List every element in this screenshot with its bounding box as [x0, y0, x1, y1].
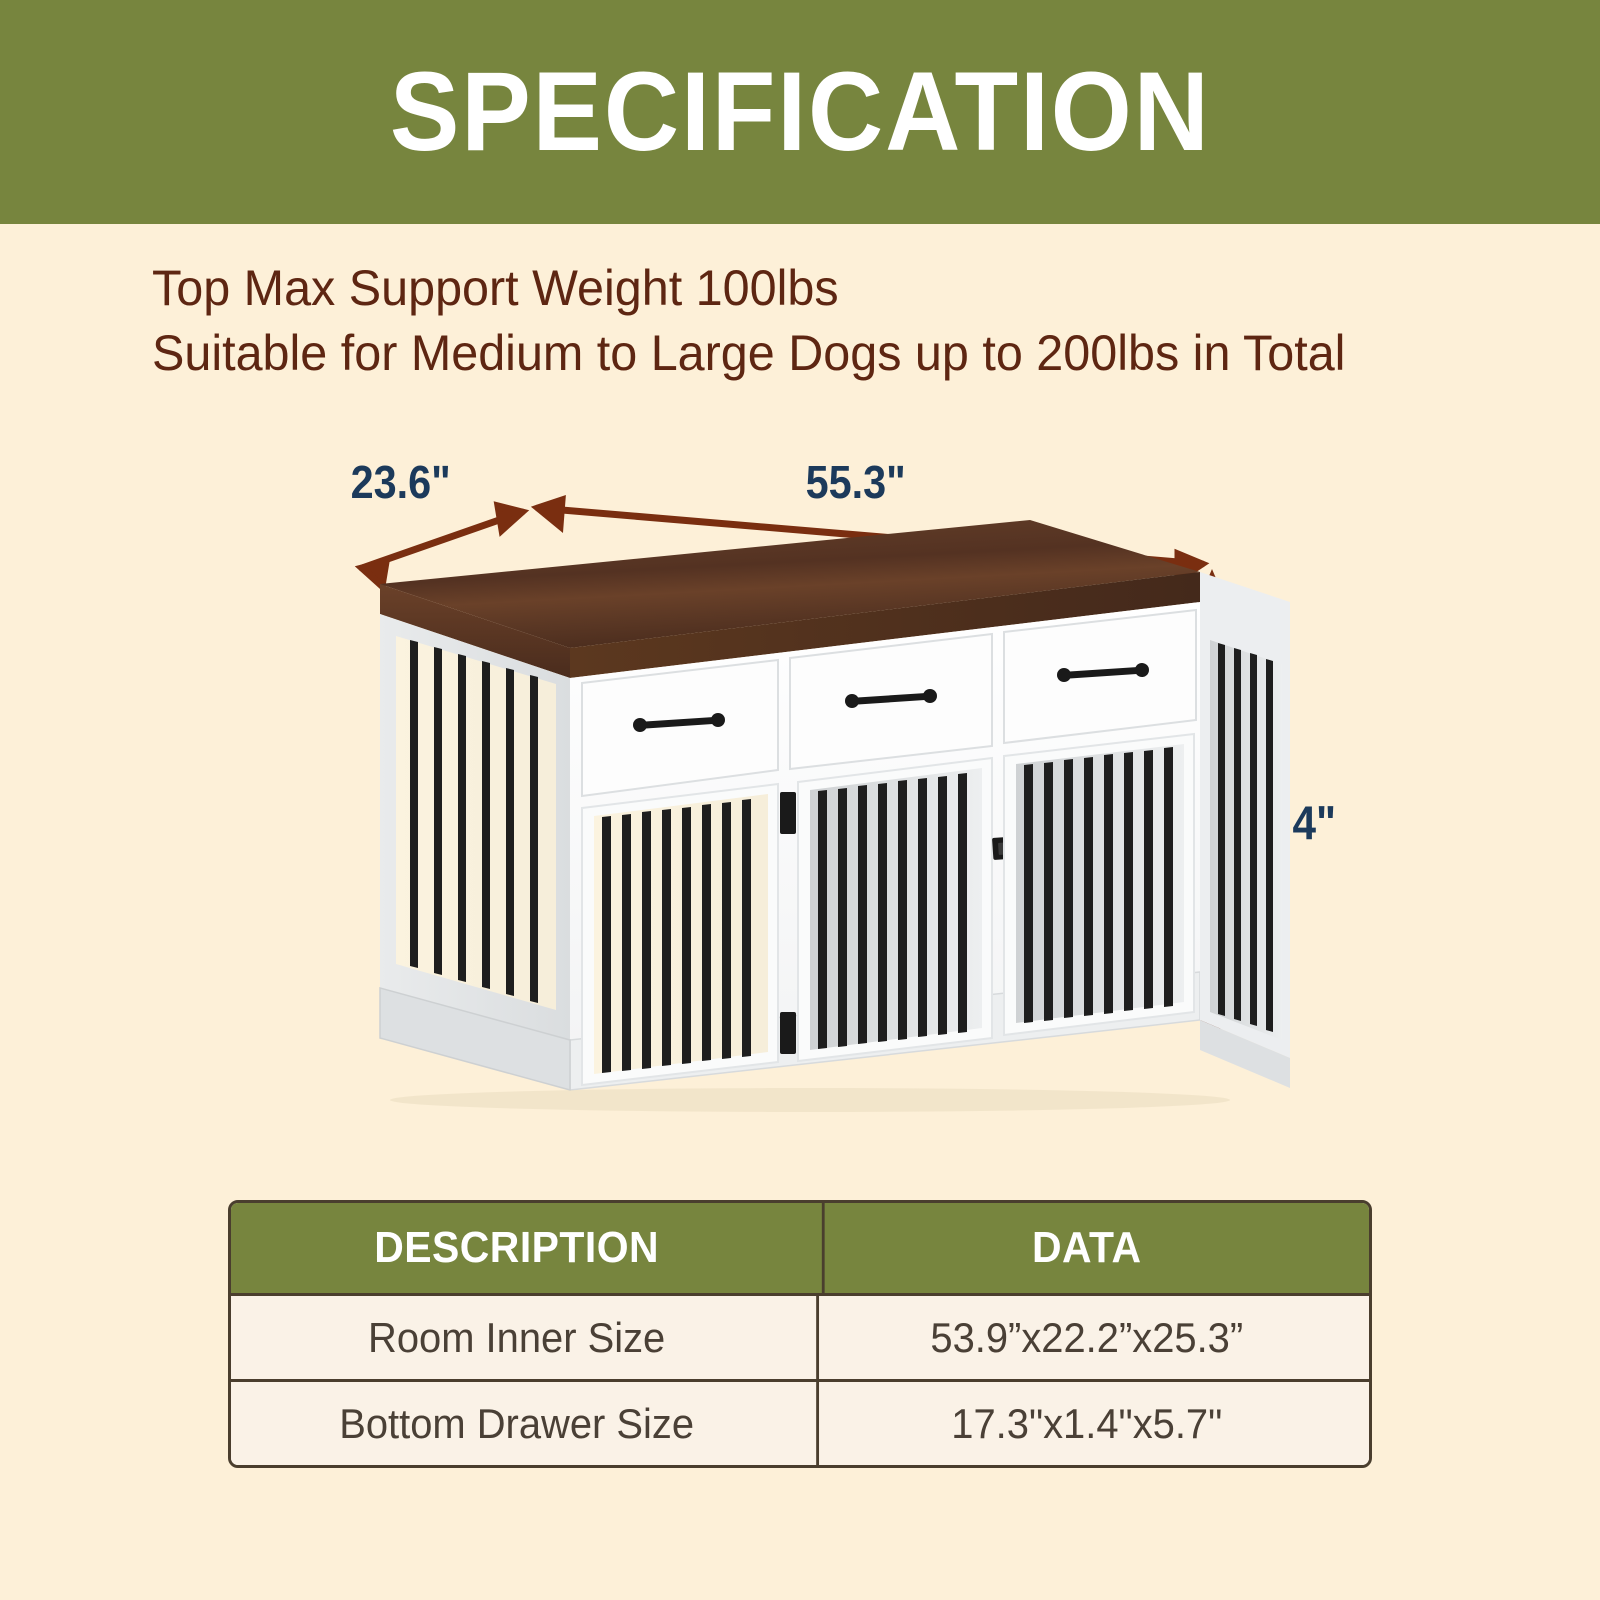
subtitle-line-2: Suitable for Medium to Large Dogs up to …	[152, 321, 1432, 386]
table-row: Bottom Drawer Size 17.3"x1.4"x5.7"	[231, 1379, 1369, 1465]
crate-door-1-opening	[594, 794, 768, 1074]
crate-door-1[interactable]	[582, 784, 796, 1085]
subtitle-block: Top Max Support Weight 100lbs Suitable f…	[152, 256, 1472, 386]
table-header-row: DESCRIPTION DATA	[231, 1203, 1369, 1293]
table-cell-data: 17.3"x1.4"x5.7"	[816, 1382, 1354, 1465]
specification-table: DESCRIPTION DATA Room Inner Size 53.9”x2…	[228, 1200, 1372, 1468]
crate-door-2[interactable]	[798, 758, 992, 1061]
table-header-description: DESCRIPTION	[251, 1203, 782, 1293]
crate-body	[380, 520, 1290, 1112]
drawer-3	[1004, 610, 1196, 743]
dog-crate-furniture-svg	[250, 440, 1450, 1160]
crate-door-1-hinge-bottom	[780, 1012, 796, 1054]
crate-door-3[interactable]	[1004, 734, 1194, 1035]
subtitle-line-1: Top Max Support Weight 100lbs	[152, 256, 1432, 321]
right-side-barred-panel	[1200, 572, 1290, 1088]
table-cell-data: 53.9”x22.2”x25.3”	[816, 1296, 1354, 1379]
table-header-data: DATA	[822, 1203, 1349, 1293]
table-cell-description: Bottom Drawer Size	[245, 1382, 788, 1465]
table-cell-description: Room Inner Size	[245, 1296, 788, 1379]
page-title: SPECIFICATION	[390, 56, 1211, 168]
spec-page: SPECIFICATION Top Max Support Weight 100…	[0, 0, 1600, 1600]
crate-door-3-opening	[1016, 744, 1184, 1023]
left-side-barred-panel	[396, 636, 556, 1010]
crate-door-2-opening	[810, 768, 982, 1050]
crate-door-1-hinge-top	[780, 792, 796, 834]
header-band: SPECIFICATION	[0, 0, 1600, 224]
table-row: Room Inner Size 53.9”x22.2”x25.3”	[231, 1293, 1369, 1379]
product-illustration	[250, 440, 1450, 1160]
